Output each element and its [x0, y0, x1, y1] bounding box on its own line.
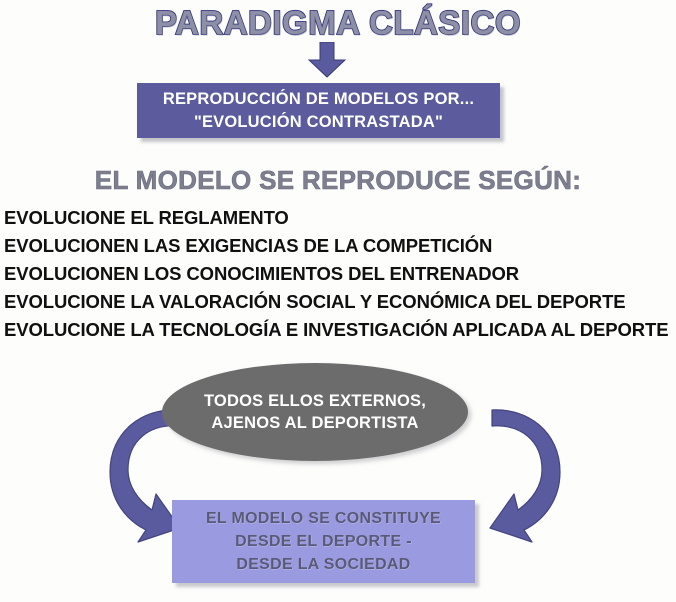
top-box-line-2: "EVOLUCIÓN CONTRASTADA" [194, 111, 443, 133]
ellipse-line-2: AJENOS AL DEPORTISTA [211, 412, 418, 434]
down-arrow-icon [305, 42, 349, 78]
section-subheading: EL MODELO SE REPRODUCE SEGÚN: [0, 165, 676, 196]
list-item: EVOLUCIONEN LOS CONOCIMIENTOS DEL ENTREN… [4, 265, 672, 284]
slide-canvas: PARADIGMA CLÁSICO REPRODUCCIÓN DE MODELO… [0, 0, 676, 602]
ellipse-line-1: TODOS ELLOS EXTERNOS, [204, 390, 426, 412]
top-box-line-1: REPRODUCCIÓN DE MODELOS POR... [163, 88, 474, 110]
bottom-box-line-2: DESDE EL DEPORTE - [235, 530, 412, 553]
page-title: PARADIGMA CLÁSICO [0, 4, 676, 42]
condition-list: EVOLUCIONE EL REGLAMENTO EVOLUCIONEN LAS… [4, 209, 672, 349]
external-factors-ellipse: TODOS ELLOS EXTERNOS, AJENOS AL DEPORTIS… [162, 363, 468, 461]
top-statement-box: REPRODUCCIÓN DE MODELOS POR... "EVOLUCIÓ… [137, 83, 500, 138]
bottom-box-line-3: DESDE LA SOCIEDAD [236, 553, 410, 576]
list-item: EVOLUCIONEN LAS EXIGENCIAS DE LA COMPETI… [4, 237, 672, 256]
list-item: EVOLUCIONE LA TECNOLOGÍA E INVESTIGACIÓN… [4, 321, 672, 340]
list-item: EVOLUCIONE EL REGLAMENTO [4, 209, 672, 228]
list-item: EVOLUCIONE LA VALORACIÓN SOCIAL Y ECONÓM… [4, 293, 672, 312]
bottom-conclusion-box: EL MODELO SE CONSTITUYE DESDE EL DEPORTE… [172, 500, 475, 583]
bottom-box-line-1: EL MODELO SE CONSTITUYE [206, 507, 441, 530]
